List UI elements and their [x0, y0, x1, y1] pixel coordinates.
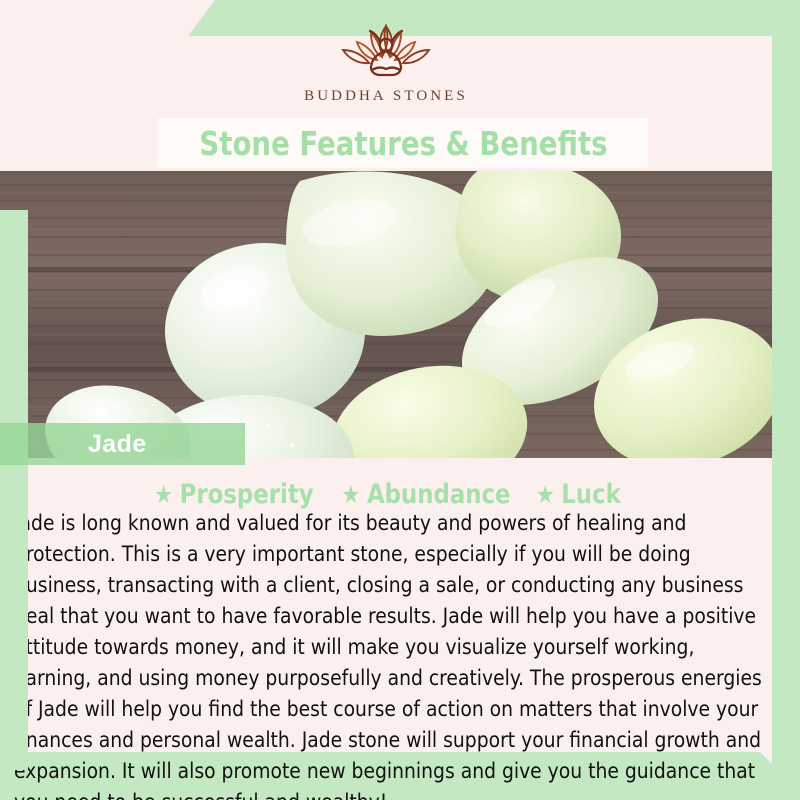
keyword-abundance: ★ Abundance	[341, 479, 510, 510]
stone-description: Jade is long known and valued for its be…	[14, 508, 763, 800]
stone-label: Jade	[88, 430, 147, 459]
keyword-prosperity: ★ Prosperity	[154, 479, 314, 510]
stone-photo	[0, 171, 772, 458]
star-icon: ★	[535, 482, 554, 507]
lotus-meditation-icon	[327, 20, 445, 82]
left-green-accent-strip	[0, 210, 28, 770]
jade-stones-illustration	[0, 171, 772, 458]
star-icon: ★	[154, 482, 173, 507]
star-icon: ★	[341, 482, 360, 507]
keyword-luck: ★ Luck	[535, 479, 620, 510]
infographic-page: BUDDHA STONES Stone Features & Benefits	[0, 0, 800, 800]
keyword-list: ★ Prosperity ★ Abundance ★ Luck	[0, 478, 772, 510]
keyword-label: Abundance	[367, 479, 511, 510]
title-banner: Stone Features & Benefits	[158, 118, 648, 168]
brand-logo: BUDDHA STONES	[0, 20, 772, 105]
page-title: Stone Features & Benefits	[199, 124, 607, 163]
keyword-label: Luck	[561, 479, 621, 510]
stone-label-bar: Jade	[0, 423, 245, 465]
brand-name: BUDDHA STONES	[304, 88, 468, 105]
keyword-label: Prosperity	[180, 479, 314, 510]
